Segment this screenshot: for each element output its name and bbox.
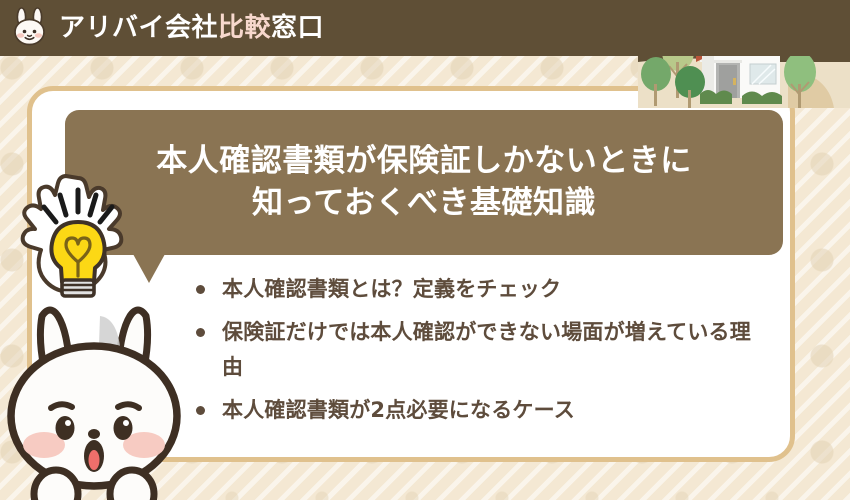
page-title: アリバイ会社比較窓口 <box>59 15 324 41</box>
list-item: 本人確認書類が2点必要になるケース <box>196 393 756 428</box>
list-item-label: 本人確認書類とは？定義をチェック <box>222 272 561 307</box>
list-item-label: 本人確認書類が2点必要になるケース <box>222 393 575 428</box>
list-item: 本人確認書類とは？定義をチェック <box>196 272 756 307</box>
topic-list: 本人確認書類とは？定義をチェック 保険証だけでは本人確認ができない場面が増えてい… <box>196 272 756 435</box>
article-title-line-2: 知っておくべき基礎知識 <box>156 183 692 224</box>
surprised-rabbit-mascot <box>0 288 208 500</box>
header-bar: アリバイ会社比較窓口 <box>0 0 850 56</box>
page-title-plain-1: アリバイ会社 <box>59 13 218 43</box>
article-title: 本人確認書類が保険証しかないときに 知っておくべき基礎知識 <box>142 141 706 223</box>
page-title-plain-2: 窓口 <box>271 13 324 43</box>
article-title-line-1: 本人確認書類が保険証しかないときに <box>156 141 692 182</box>
page-title-accent: 比較 <box>218 13 271 43</box>
page-root: アリバイ会社比較窓口 <box>0 0 850 500</box>
rabbit-logo-icon <box>7 6 53 50</box>
list-item: 保険証だけでは本人確認ができない場面が増えている理由 <box>196 315 756 385</box>
list-item-label: 保険証だけでは本人確認ができない場面が増えている理由 <box>222 315 756 385</box>
title-speech-bubble: 本人確認書類が保険証しかないときに 知っておくべき基礎知識 <box>65 110 783 255</box>
